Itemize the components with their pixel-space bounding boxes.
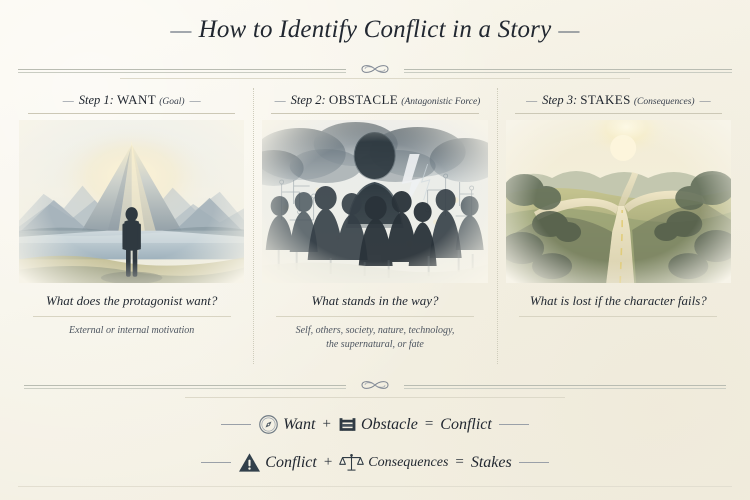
column-step-3: —Step 3: STAKES (Consequences)—	[497, 86, 740, 366]
formula-1-plus: +	[322, 416, 330, 433]
page-title: —How to Identify Conflict in a Story—	[0, 16, 750, 44]
step-1-header: —Step 1: WANT (Goal)—	[58, 92, 206, 108]
formula-2-plus: +	[324, 454, 332, 471]
base-rule	[18, 486, 732, 487]
step-2-label: Step 2:	[291, 93, 326, 107]
header-rule-left	[18, 69, 346, 73]
formula-2-term-b: Consequences	[368, 455, 448, 471]
formula-2-term-b-group: Consequences	[339, 452, 448, 473]
artwork-crowd-storm	[262, 120, 487, 283]
header-sub-rule	[120, 78, 630, 79]
page-title-text: How to Identify Conflict in a Story	[199, 16, 552, 43]
footer-ornament-rule	[24, 380, 726, 394]
step-1-dash-right: —	[185, 95, 206, 107]
steps-columns: —Step 1: WANT (Goal)—	[10, 86, 740, 366]
step-3-dash-left: —	[521, 95, 542, 107]
step-2-paren: (Antagonistic Force)	[401, 97, 480, 107]
formula-1-dash-left	[221, 424, 251, 425]
footer-rule-right	[404, 385, 726, 389]
artwork-mountain-peak	[19, 120, 244, 283]
formula-1-result: Conflict	[440, 416, 492, 434]
step-2-dash-left: —	[270, 95, 291, 107]
step-1-paren: (Goal)	[159, 97, 184, 107]
step-3-head-rule	[515, 113, 722, 114]
caption-2: What stands in the way? Self, others, so…	[262, 293, 487, 353]
formula-1-term-b: Obstacle	[361, 416, 418, 434]
title-block: —How to Identify Conflict in a Story—	[0, 16, 750, 44]
header-ornament-rule	[18, 64, 732, 78]
forked-road-illustration	[506, 120, 731, 283]
formula-stakes: Conflict + Consequences = Stakes	[0, 452, 750, 473]
step-3-paren: (Consequences)	[634, 97, 695, 107]
formula-2-term-a: Conflict	[265, 454, 317, 472]
barrier-icon	[338, 415, 357, 434]
caption-1: What does the protagonist want? External…	[19, 293, 244, 338]
caption-3-question: What is lost if the character fails?	[506, 293, 731, 309]
column-step-1: —Step 1: WANT (Goal)—	[10, 86, 253, 366]
footer-sub-rule	[185, 397, 565, 398]
artwork-forked-road	[506, 120, 731, 283]
infographic-sheet: —How to Identify Conflict in a Story— —S…	[0, 0, 750, 500]
step-3-keyword: STAKES	[580, 92, 630, 107]
step-1-dash-left: —	[58, 95, 79, 107]
formula-1-term-a: Want	[283, 416, 315, 434]
infinity-knot-icon-footer	[346, 378, 404, 396]
formula-conflict: Want + Obstacle = Conflict	[0, 414, 750, 435]
caption-3-rule	[519, 316, 717, 317]
formula-2-dash-right	[519, 462, 549, 463]
caption-1-question: What does the protagonist want?	[19, 293, 244, 309]
mountain-peak-illustration	[19, 120, 244, 283]
step-3-header: —Step 3: STAKES (Consequences)—	[521, 92, 715, 108]
caption-1-rule	[33, 316, 231, 317]
footer-rule-left	[24, 385, 346, 389]
warning-triangle-icon	[238, 452, 261, 473]
column-step-2: —Step 2: OBSTACLE (Antagonistic Force)	[253, 86, 496, 366]
step-1-label: Step 1:	[79, 93, 114, 107]
caption-2-subtext: Self, others, society, nature, technolog…	[262, 324, 487, 353]
formula-2-equals: =	[455, 454, 463, 471]
step-2-header: —Step 2: OBSTACLE (Antagonistic Force)	[270, 92, 481, 108]
crowd-storm-illustration	[262, 120, 487, 283]
step-2-keyword: OBSTACLE	[329, 92, 398, 107]
formula-2-term-a-group: Conflict	[238, 452, 317, 473]
formula-2-dash-left	[201, 462, 231, 463]
caption-2-subtext-line2: the supernatural, or fate	[326, 339, 424, 350]
formula-2-result: Stakes	[471, 454, 512, 472]
formula-1-equals: =	[425, 416, 433, 433]
title-dash-left: —	[163, 18, 198, 42]
formula-1-term-a-group: Want	[258, 414, 315, 435]
scales-icon	[339, 452, 364, 473]
compass-icon	[258, 414, 279, 435]
header-rule-right	[404, 69, 732, 73]
title-dash-right: —	[551, 18, 586, 42]
caption-2-question: What stands in the way?	[262, 293, 487, 309]
caption-3: What is lost if the character fails?	[506, 293, 731, 324]
step-1-head-rule	[28, 113, 235, 114]
caption-2-subtext-line1: Self, others, society, nature, technolog…	[296, 325, 455, 336]
step-2-head-rule	[271, 113, 478, 114]
formula-1-dash-right	[499, 424, 529, 425]
step-3-dash-right: —	[695, 95, 716, 107]
step-3-label: Step 3:	[542, 93, 577, 107]
step-1-keyword: WANT	[117, 92, 156, 107]
formula-1-term-b-group: Obstacle	[338, 415, 418, 434]
caption-2-rule	[276, 316, 474, 317]
caption-1-subtext: External or internal motivation	[19, 324, 244, 339]
